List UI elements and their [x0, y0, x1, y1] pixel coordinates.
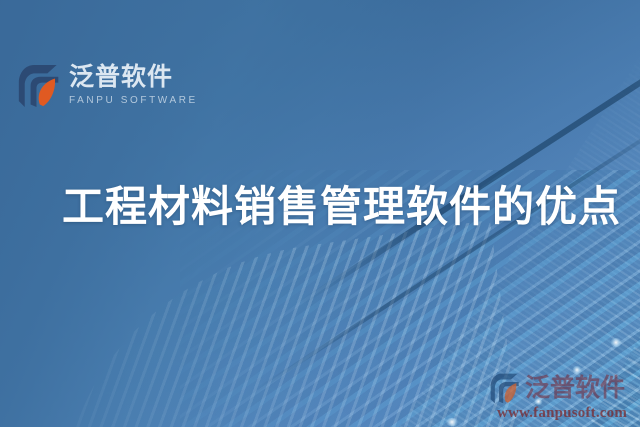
- window-reflection-1: [610, 338, 622, 347]
- brand-name-en: FANPU SOFTWARE: [69, 93, 198, 108]
- facade-mullion-line: [300, 17, 640, 305]
- facade-mullion-line-2: [250, 109, 640, 396]
- banner-title: 工程材料销售管理软件的优点: [62, 173, 621, 234]
- watermark-url: www.fanpusoft.com: [490, 405, 634, 422]
- fanpu-logo-mark-icon: [18, 64, 60, 108]
- brand-logo: 泛普软件 FANPU SOFTWARE: [18, 64, 198, 108]
- promo-banner: 泛普软件 FANPU SOFTWARE 工程材料销售管理软件的优点 泛普软件 w…: [0, 0, 640, 427]
- watermark-brand-row: 泛普软件: [490, 373, 634, 404]
- glass-canopy: [34, 220, 545, 427]
- brand-name-cn: 泛普软件: [69, 64, 198, 90]
- brand-logo-text: 泛普软件 FANPU SOFTWARE: [69, 64, 198, 107]
- fanpu-watermark-mark-icon: [490, 373, 520, 404]
- site-watermark: 泛普软件 www.fanpusoft.com: [490, 373, 634, 422]
- watermark-brand-name: 泛普软件: [525, 376, 625, 401]
- window-reflection-4: [445, 418, 459, 426]
